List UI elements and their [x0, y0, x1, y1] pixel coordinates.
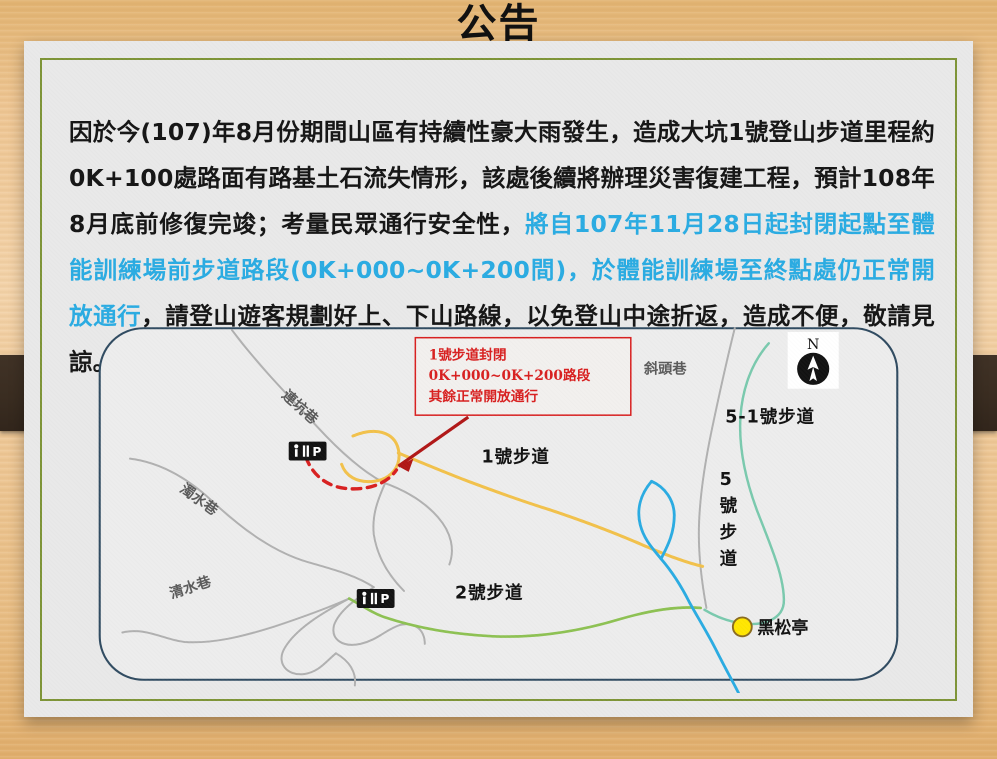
callout-line-2: 0K+000~0K+200路段 [429, 367, 591, 384]
trail-label-2: 2號步道 [455, 583, 523, 604]
svg-text:N: N [807, 337, 819, 353]
paper-inner-frame: 因於今(107)年8月份期間山區有持續性豪大雨發生，造成大坑1號登山步道里程約0… [40, 58, 957, 701]
restroom-parking-icon-2: P [357, 589, 395, 608]
restroom-parking-icon-1: P [289, 442, 327, 461]
trail-label-1: 1號步道 [481, 446, 549, 467]
trail-map-svg: P P N [50, 315, 947, 693]
announcement-slide: 公告 因於今(107)年8月份期間山區有持續性豪大雨發生，造成大坑1號登山步道里… [0, 0, 997, 759]
callout-line-3: 其餘正常開放通行 [429, 388, 539, 405]
compass-north-icon: N [788, 332, 839, 389]
road-label-xie-tou-lane: 斜頭巷 [643, 361, 687, 378]
page-title: 公告 [0, 2, 997, 46]
trail-map: P P N [50, 315, 947, 693]
svg-text:道: 道 [720, 548, 738, 569]
svg-text:號: 號 [720, 497, 738, 517]
trail-label-5-1: 5-1號步道 [725, 407, 815, 428]
svg-text:5: 5 [720, 470, 733, 490]
announcement-paper: 因於今(107)年8月份期間山區有持續性豪大雨發生，造成大坑1號登山步道里程約0… [24, 41, 973, 717]
poi-marker-heisongting [733, 617, 752, 636]
svg-text:P: P [380, 592, 389, 606]
svg-text:步: 步 [720, 522, 738, 543]
callout-line-1: 1號步道封閉 [429, 346, 507, 363]
svg-text:P: P [312, 445, 321, 459]
poi-label-heisongting: 黑松亭 [757, 617, 808, 638]
